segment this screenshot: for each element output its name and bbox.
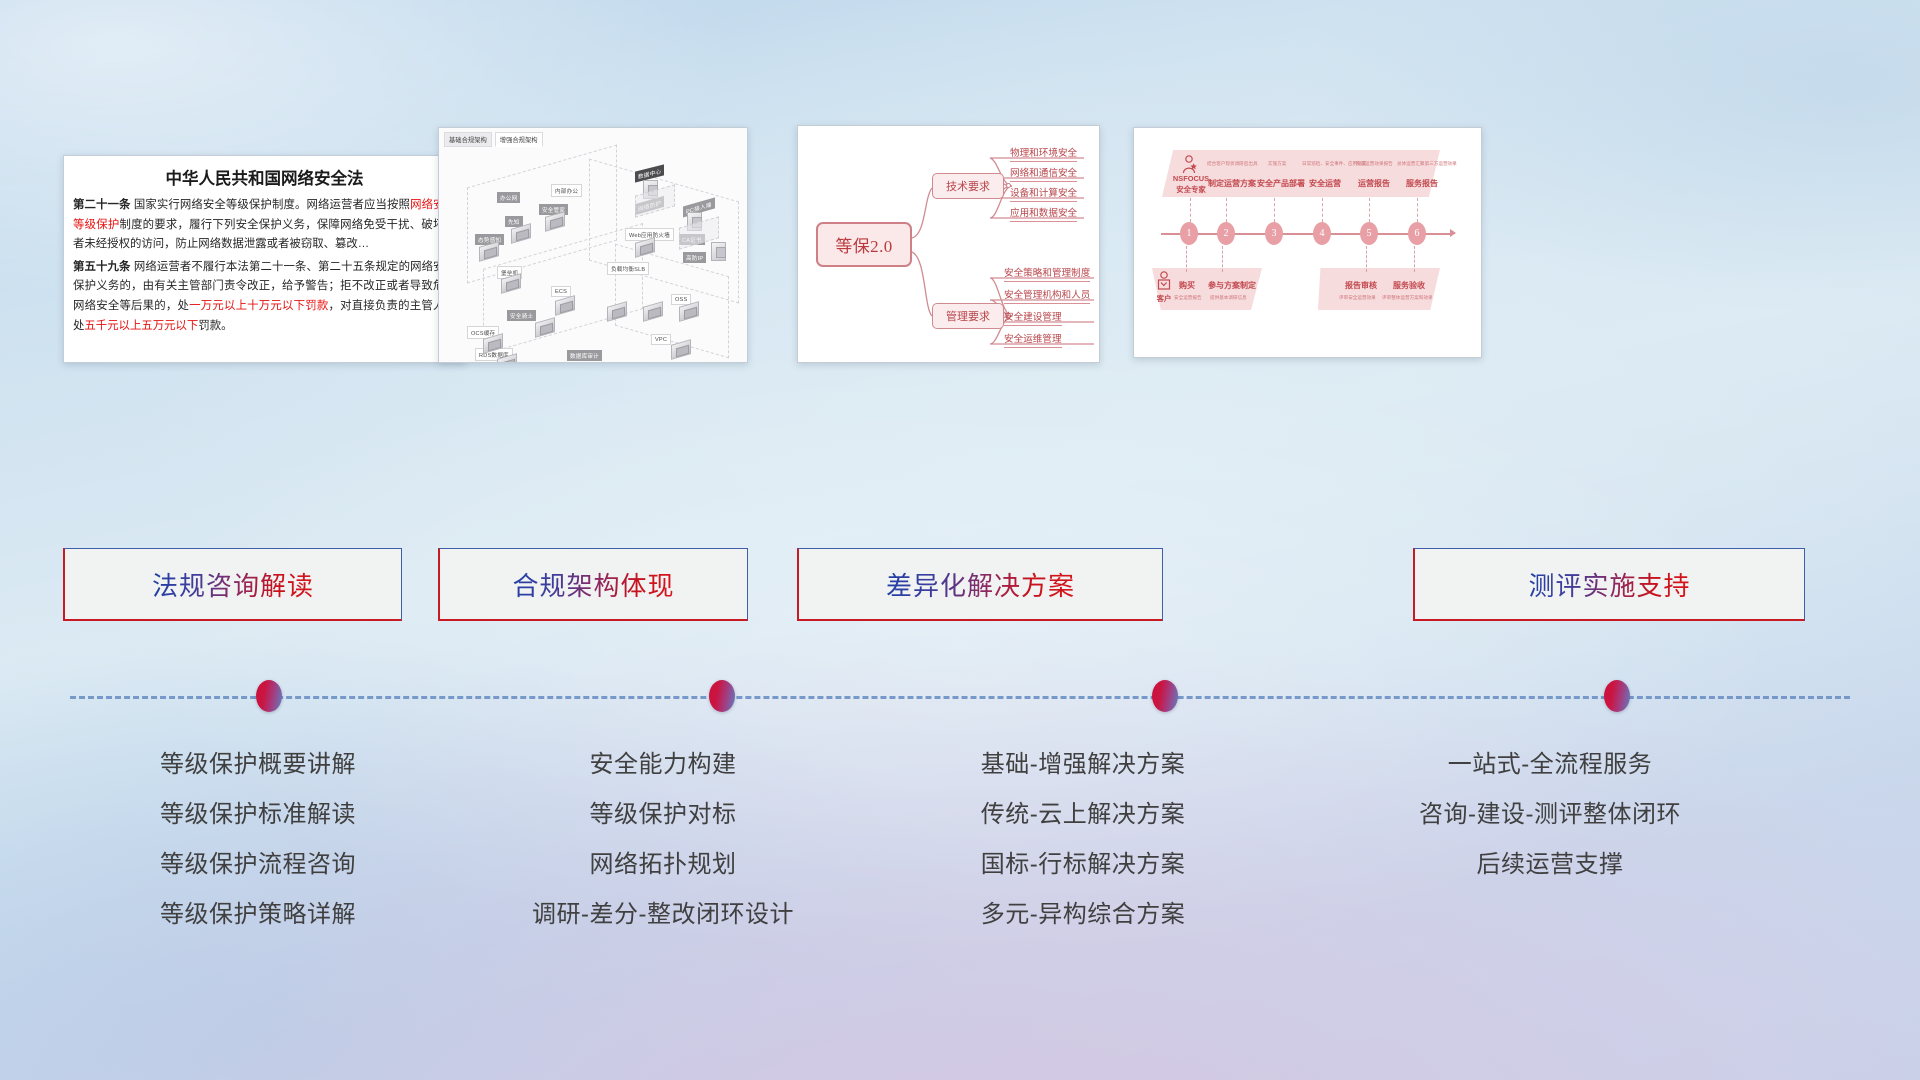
heading-box-assessment-support[interactable]: 测评实施支持 bbox=[1413, 548, 1805, 621]
list-item: 安全能力构建 bbox=[453, 740, 873, 790]
list-item: 一站式-全流程服务 bbox=[1300, 740, 1800, 790]
heading-label-1: 法规咨询解读 bbox=[152, 566, 314, 603]
list-column-assessment: 一站式-全流程服务 咨询-建设-测评整体闭环 后续运营支撑 bbox=[1300, 740, 1800, 890]
list-column-architecture: 安全能力构建 等级保护对标 网络拓扑规划 调研-差分-整改闭环设计 bbox=[453, 740, 873, 940]
heading-box-compliance-architecture[interactable]: 合规架构体现 bbox=[438, 548, 748, 621]
heading-box-differentiated-solution[interactable]: 差异化解决方案 bbox=[797, 548, 1163, 621]
list-item: 后续运营支撑 bbox=[1300, 840, 1800, 890]
heading-label-4: 测评实施支持 bbox=[1528, 566, 1690, 603]
list-column-solutions: 基础-增强解决方案 传统-云上解决方案 国标-行标解决方案 多元-异构综合方案 bbox=[873, 740, 1293, 940]
list-item: 国标-行标解决方案 bbox=[873, 840, 1293, 890]
list-item: 等级保护流程咨询 bbox=[63, 840, 453, 890]
list-item: 网络拓扑规划 bbox=[453, 840, 873, 890]
timeline-marker-2[interactable] bbox=[709, 680, 735, 712]
list-item: 等级保护标准解读 bbox=[63, 790, 453, 840]
timeline-marker-4[interactable] bbox=[1604, 680, 1630, 712]
heading-box-regulation-consulting[interactable]: 法规咨询解读 bbox=[63, 548, 402, 621]
heading-label-3: 差异化解决方案 bbox=[886, 566, 1075, 603]
list-item: 等级保护对标 bbox=[453, 790, 873, 840]
list-item: 传统-云上解决方案 bbox=[873, 790, 1293, 840]
list-item: 多元-异构综合方案 bbox=[873, 890, 1293, 940]
list-item: 等级保护概要讲解 bbox=[63, 740, 453, 790]
heading-label-2: 合规架构体现 bbox=[512, 566, 674, 603]
list-item: 基础-增强解决方案 bbox=[873, 740, 1293, 790]
timeline-marker-3[interactable] bbox=[1152, 680, 1178, 712]
timeline-marker-1[interactable] bbox=[256, 680, 282, 712]
list-item: 等级保护策略详解 bbox=[63, 890, 453, 940]
list-item: 咨询-建设-测评整体闭环 bbox=[1300, 790, 1800, 840]
list-item: 调研-差分-整改闭环设计 bbox=[453, 890, 873, 940]
list-column-regulation: 等级保护概要讲解 等级保护标准解读 等级保护流程咨询 等级保护策略详解 bbox=[63, 740, 453, 940]
slide-stage: 中华人民共和国网络安全法 第二十一条 国家实行网络安全等级保护制度。网络运营者应… bbox=[0, 0, 1920, 1080]
timeline-dashed-line bbox=[70, 696, 1850, 699]
